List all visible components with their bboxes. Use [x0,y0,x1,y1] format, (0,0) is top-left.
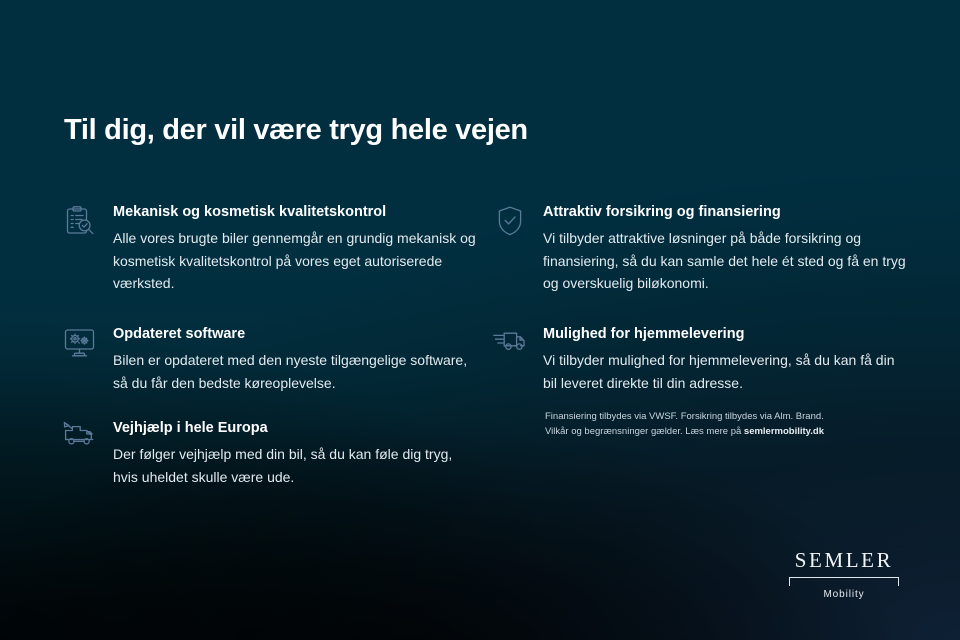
disclaimer-line-2: Vilkår og begrænsninger gælder. Læs mere… [545,424,885,439]
disclaimer-line-2-text: Vilkår og begrænsninger gælder. Læs mere… [545,426,744,437]
feature-description: Bilen er opdateret med den nyeste tilgæn… [113,349,480,394]
feature-title: Mekanisk og kosmetisk kvalitetskontrol [113,203,480,222]
feature-item-software: Opdateret software Bilen er opdateret me… [60,325,480,397]
semlermobility-link[interactable]: semlermobility.dk [744,426,824,437]
feature-item-insurance-financing: Attraktiv forsikring og finansiering Vi … [490,203,910,303]
feature-title: Attraktiv forsikring og finansiering [543,203,910,222]
feature-item-home-delivery: Mulighed for hjemmelevering Vi tilbyder … [490,325,910,397]
clipboard-magnifier-icon [60,205,100,245]
feature-description: Alle vores brugte biler gennemgår en gru… [113,227,480,295]
feature-column-right: Attraktiv forsikring og finansiering Vi … [490,203,910,397]
feature-title: Mulighed for hjemmelevering [543,325,910,344]
legal-disclaimer: Finansiering tilbydes via VWSF. Forsikri… [545,409,885,440]
feature-item-quality-control: Mekanisk og kosmetisk kvalitetskontrol A… [60,203,480,303]
feature-description: Vi tilbyder mulighed for hjemmelevering,… [543,349,910,394]
feature-title: Opdateret software [113,325,480,344]
feature-item-roadside-assistance: Vejhjælp i hele Europa Der følger vejhjæ… [60,419,480,488]
disclaimer-line-1: Finansiering tilbydes via VWSF. Forsikri… [545,409,885,424]
logo-subtitle: Mobility [788,589,900,600]
page-title: Til dig, der vil være tryg hele vejen [64,114,528,147]
feature-title: Vejhjælp i hele Europa [113,419,480,438]
feature-description: Der følger vejhjælp med din bil, så du k… [113,443,480,488]
tow-truck-icon [60,421,100,461]
shield-check-icon [490,205,530,245]
feature-description: Vi tilbyder attraktive løsninger på både… [543,227,910,295]
delivery-truck-icon [490,327,530,367]
promo-banner: Til dig, der vil være tryg hele vejen [0,0,960,640]
logo-wordmark: SEMLER [788,550,900,571]
feature-column-left: Mekanisk og kosmetisk kvalitetskontrol A… [60,203,480,488]
semler-mobility-logo: SEMLER Mobility [788,550,900,600]
logo-divider-rule [789,577,899,586]
monitor-gears-icon [60,327,100,367]
